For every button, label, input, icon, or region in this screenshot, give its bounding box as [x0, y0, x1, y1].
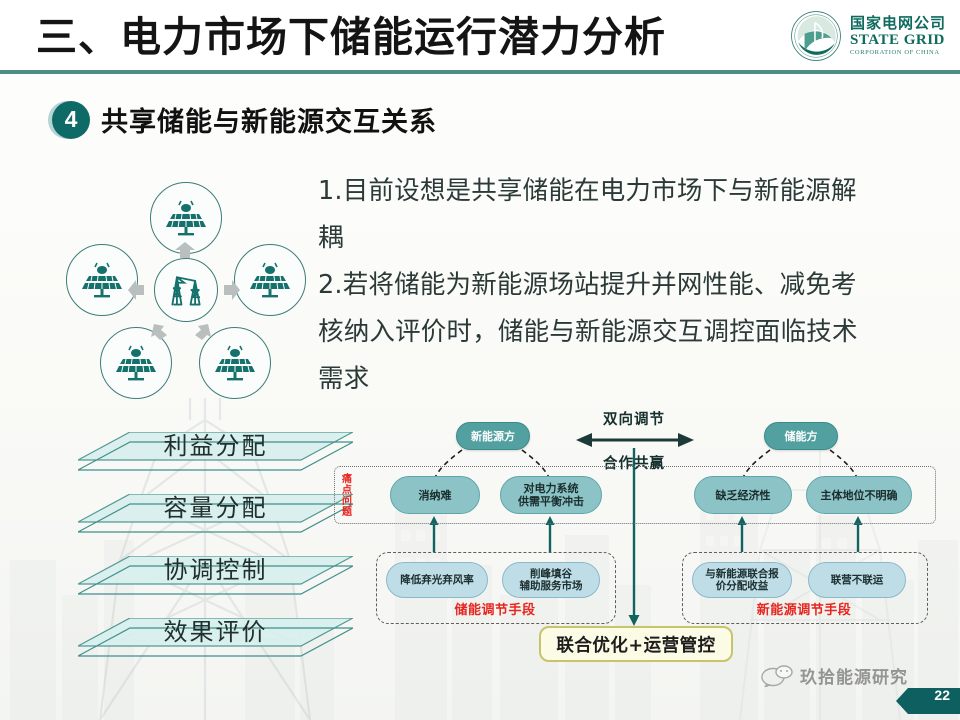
- solar-panel-icon: [215, 343, 255, 383]
- pain-point-supply-demand-line1: 对电力系统: [524, 482, 579, 495]
- page-number-badge: 22: [896, 688, 960, 714]
- block-arrow-icon-down-right: [194, 324, 214, 340]
- means-peak-shaving-line1: 削峰填谷: [530, 568, 572, 580]
- body-text: 1.目前设想是共享储能在电力市场下与新能源解耦 2.若将储能为新能源场站提升并网…: [318, 168, 863, 403]
- block-arrow-icon-left: [128, 280, 144, 300]
- header-divider: [0, 70, 960, 74]
- chat-bubbles-icon: [760, 665, 794, 687]
- means-peak-shaving[interactable]: 削峰填谷 辅助服务市场: [502, 562, 600, 598]
- means-peak-shaving-line2: 辅助服务市场: [520, 580, 583, 592]
- watermark: 玖拾能源研究: [760, 663, 908, 688]
- slide: 三、电力市场下储能运行潜力分析 国家电网公司 STATE GRID CORPOR…: [0, 0, 960, 720]
- block-arrow-icon-down-left: [148, 324, 168, 340]
- means-joint-bidding-line1: 与新能源联合报: [705, 568, 779, 580]
- party-pill-new-energy[interactable]: 新能源方: [456, 422, 530, 450]
- logo-subtitle: CORPORATION OF CHINA: [850, 50, 946, 57]
- pain-point-supply-demand[interactable]: 对电力系统 供需平衡冲击: [500, 476, 602, 514]
- storage-means-title: 储能调节手段: [376, 599, 614, 618]
- party-pill-storage[interactable]: 储能方: [764, 422, 838, 450]
- block-arrow-icon-up: [175, 242, 195, 258]
- plate-label-2: 容量分配: [78, 488, 353, 523]
- solar-panel-icon: [250, 260, 290, 300]
- interaction-flow-diagram: 双向调节 合作共赢 新能源方 储能方 痛点问题 消纳难 对电力系统 供需平衡冲击…: [334, 404, 942, 666]
- transmission-tower-icon: [166, 270, 206, 310]
- means-joint-bidding-line2: 价分配收益: [716, 580, 769, 592]
- pain-point-status[interactable]: 主体地位不明确: [806, 476, 912, 514]
- page-badge-shape: [896, 688, 960, 714]
- state-grid-logo: 国家电网公司 STATE GRID CORPORATION OF CHINA: [790, 8, 946, 64]
- plate-label-4: 效果评价: [78, 612, 353, 647]
- page-title: 三、电力市场下储能运行潜力分析: [36, 9, 666, 65]
- plate-label-3: 协调控制: [78, 550, 353, 585]
- bidir-label-top: 双向调节: [574, 408, 694, 429]
- grid-center-node: [154, 258, 218, 322]
- means-reduce-curtailment[interactable]: 降低弃光弃风率: [386, 562, 488, 598]
- body-paragraph-2: 2.若将储能为新能源场站提升并网性能、减免考核纳入评价时，储能与新能源交互调控面…: [318, 262, 863, 403]
- pain-point-vertical-label: 痛点问题: [340, 474, 354, 518]
- solar-cluster-graphic: [62, 182, 312, 397]
- solar-panel-icon: [82, 260, 122, 300]
- final-outcome-box[interactable]: 联合优化+运营管控: [539, 626, 733, 662]
- plate-label-1: 利益分配: [78, 426, 353, 461]
- means-joint-bidding[interactable]: 与新能源联合报 价分配收益: [692, 562, 792, 598]
- new-energy-means-title: 新能源调节手段: [682, 599, 926, 618]
- block-arrow-icon-right: [224, 280, 240, 300]
- pain-point-supply-demand-line2: 供需平衡冲击: [518, 495, 584, 508]
- watermark-text: 玖拾能源研究: [800, 663, 908, 688]
- section-heading: 4 共享储能与新能源交互关系: [52, 100, 437, 139]
- logo-chinese-name: 国家电网公司: [850, 16, 946, 31]
- solar-panel-icon: [166, 198, 206, 238]
- section-number-badge: 4: [52, 101, 90, 139]
- means-joint-operation[interactable]: 联营不联运: [808, 562, 906, 598]
- page-number: 22: [934, 687, 950, 703]
- solar-node-right: [234, 244, 306, 316]
- pain-point-xiaona[interactable]: 消纳难: [390, 476, 480, 514]
- solar-panel-icon: [116, 343, 156, 383]
- pain-point-economics[interactable]: 缺乏经济性: [694, 476, 792, 514]
- slide-header: 三、电力市场下储能运行潜力分析 国家电网公司 STATE GRID CORPOR…: [0, 0, 960, 72]
- state-grid-globe-icon: [790, 10, 842, 62]
- section-title: 共享储能与新能源交互关系: [101, 100, 437, 139]
- body-paragraph-1: 1.目前设想是共享储能在电力市场下与新能源解耦: [318, 168, 863, 262]
- layered-plates: 利益分配 容量分配 协调控制 效果评价: [78, 432, 353, 680]
- logo-english-name: STATE GRID: [850, 33, 946, 48]
